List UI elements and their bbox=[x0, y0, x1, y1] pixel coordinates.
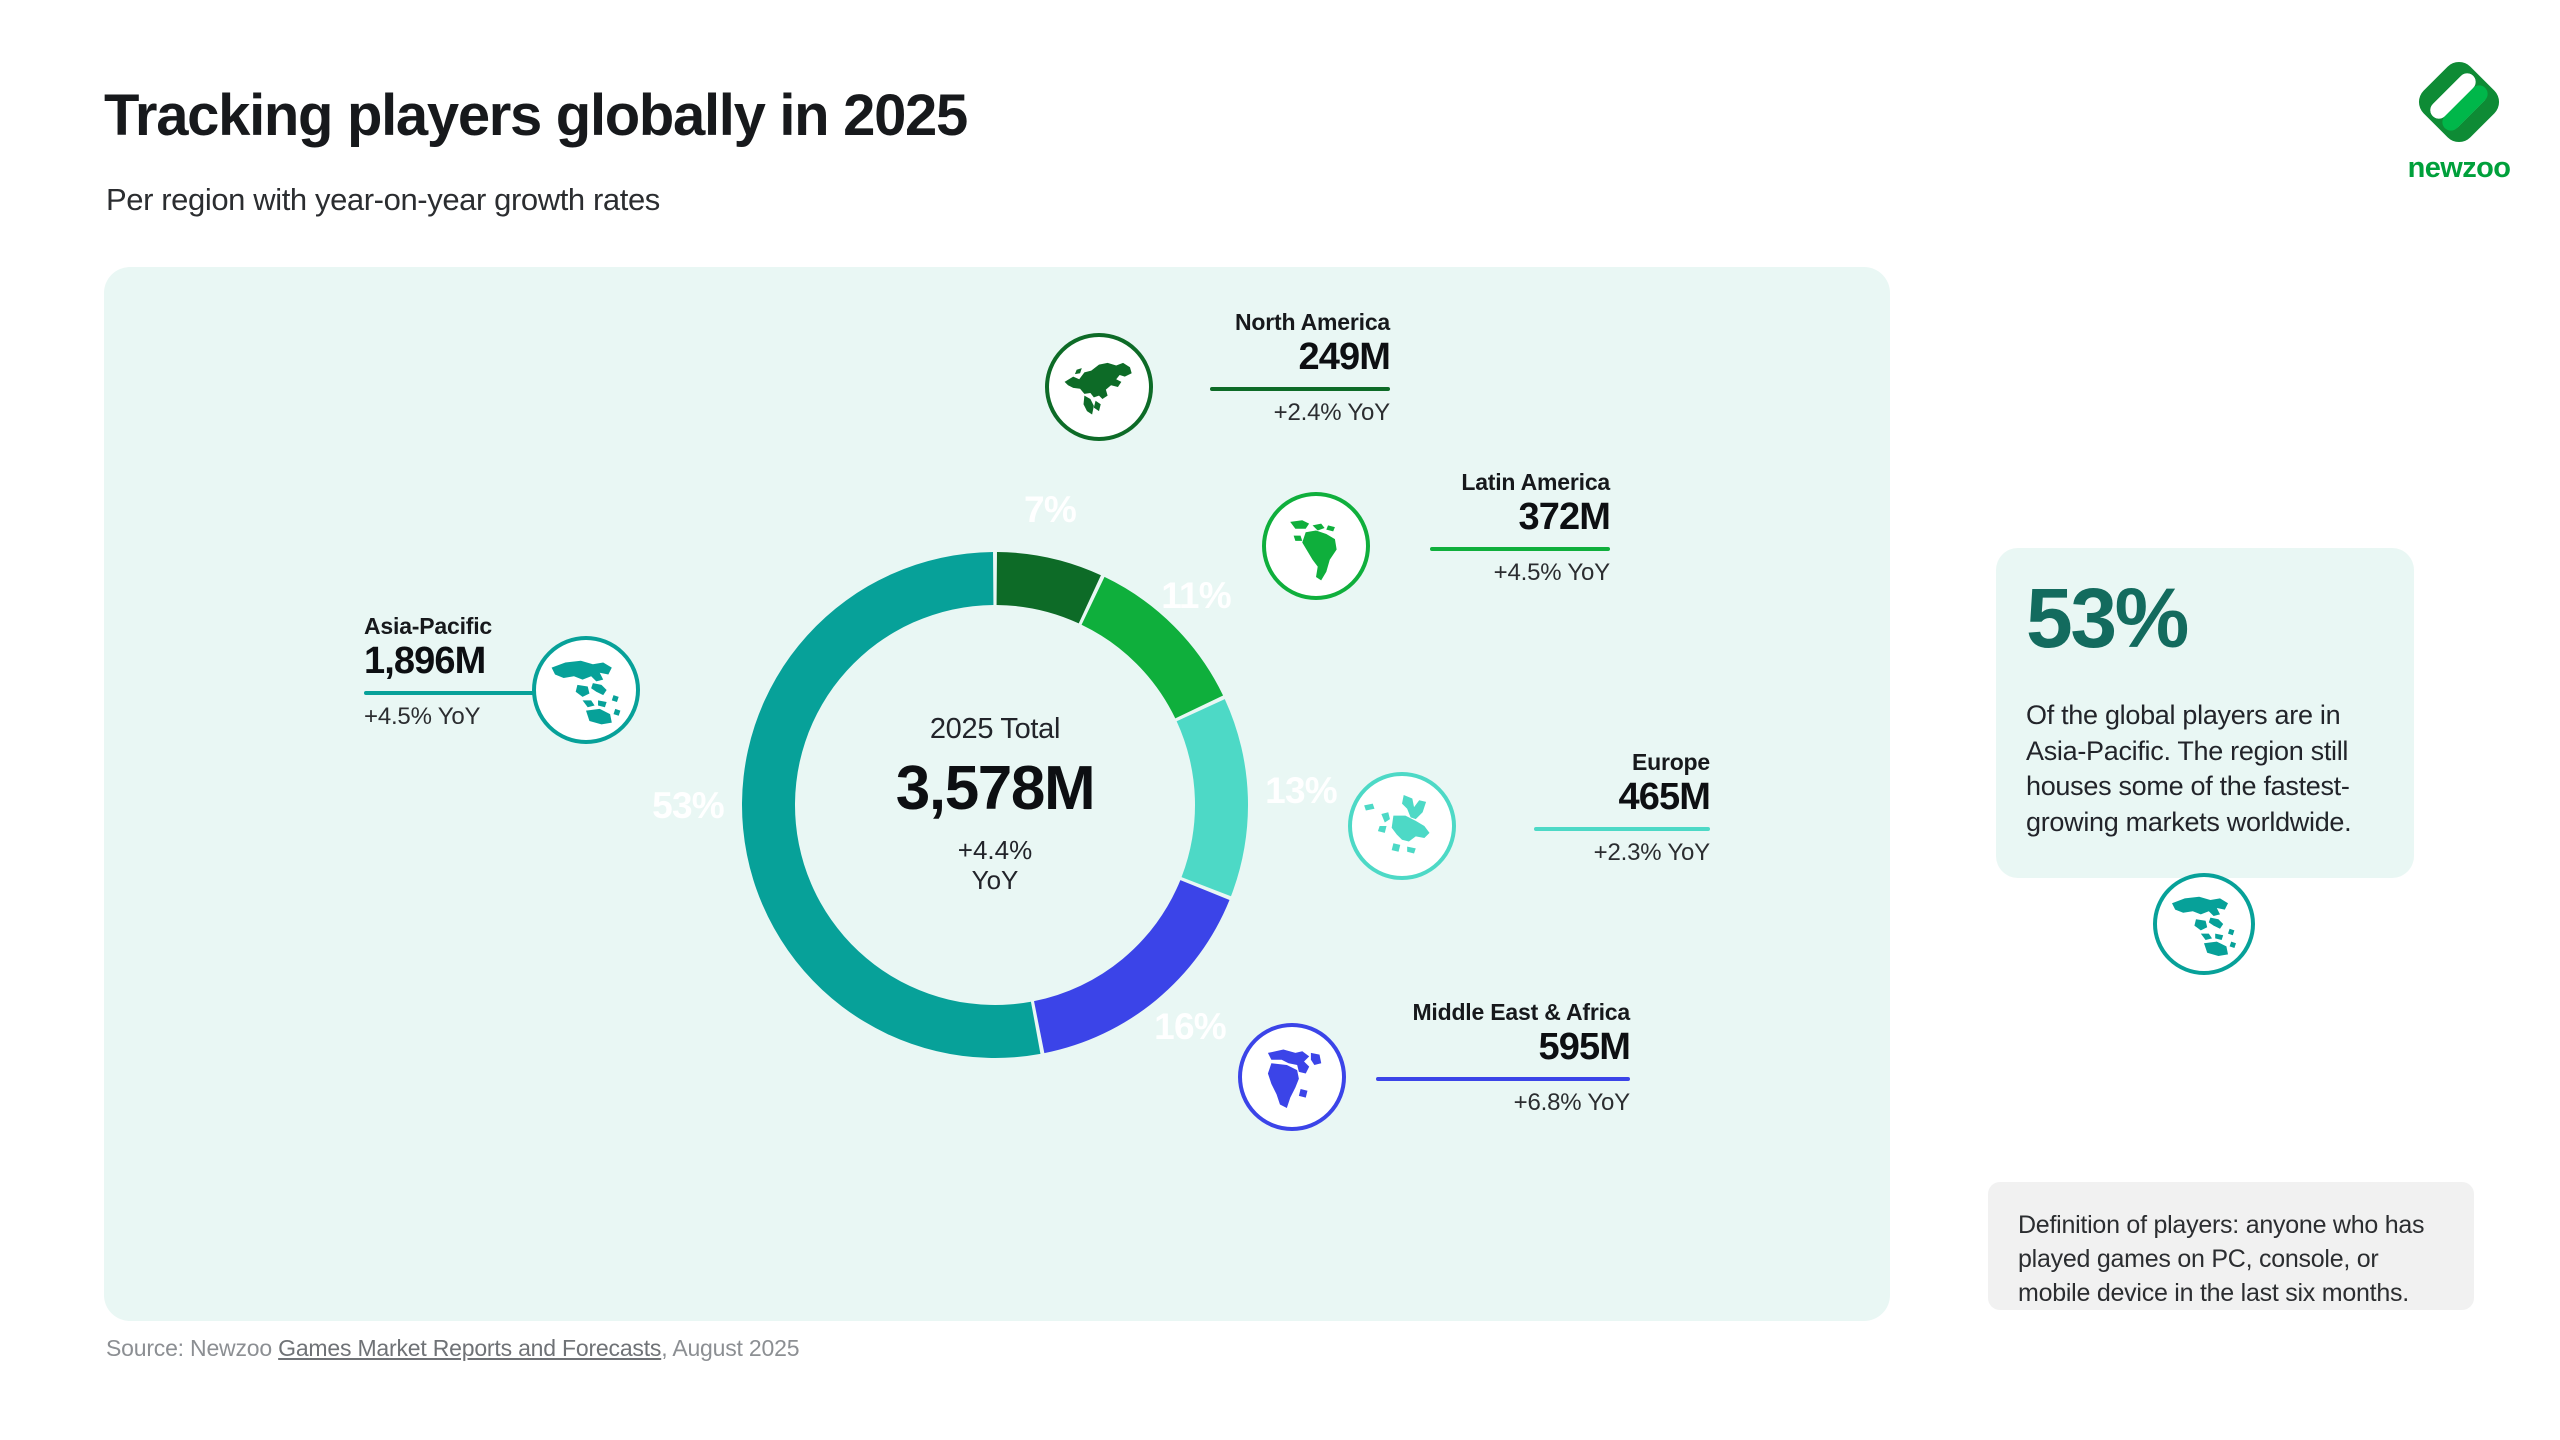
definition-card: Definition of players: anyone who has pl… bbox=[1988, 1182, 2474, 1310]
stat-card-description: Of the global players are in Asia-Pacifi… bbox=[2026, 698, 2386, 841]
definition-text: Definition of players: anyone who has pl… bbox=[2018, 1208, 2448, 1310]
callout-name-latin-america: Latin America bbox=[1250, 470, 1610, 495]
segment-percent-middle-east-africa: 16% bbox=[1154, 1006, 1226, 1048]
callout-rule-asia-pacific bbox=[364, 691, 552, 695]
infographic-canvas: Tracking players globally in 2025 Per re… bbox=[0, 0, 2560, 1440]
stat-card: 53% Of the global players are in Asia-Pa… bbox=[1996, 548, 2414, 878]
callout-name-asia-pacific: Asia-Pacific bbox=[364, 614, 654, 639]
europe-map-icon bbox=[1348, 772, 1456, 880]
segment-percent-north-america: 7% bbox=[1024, 489, 1076, 531]
stat-card-asia-pacific-map-icon bbox=[2153, 873, 2255, 975]
asia-pacific-map-icon bbox=[532, 636, 640, 744]
callout-rule-middle-east-africa bbox=[1376, 1077, 1630, 1081]
callout-name-north-america: North America bbox=[1030, 310, 1390, 335]
newzoo-logo: newzoo bbox=[2395, 52, 2523, 192]
donut-segment[interactable] bbox=[742, 552, 1040, 1058]
segment-percent-asia-pacific: 53% bbox=[652, 785, 724, 827]
source-prefix: Source: Newzoo bbox=[106, 1335, 278, 1361]
callout-name-middle-east-africa: Middle East & Africa bbox=[1230, 1000, 1630, 1025]
donut-chart: 2025 Total 3,578M +4.4% YoY bbox=[742, 552, 1248, 1058]
north-america-map-icon bbox=[1045, 333, 1153, 441]
stat-card-big-number: 53% bbox=[2026, 576, 2187, 660]
source-suffix: , August 2025 bbox=[661, 1335, 799, 1361]
page-title: Tracking players globally in 2025 bbox=[104, 82, 967, 149]
callout-rule-latin-america bbox=[1430, 547, 1610, 551]
newzoo-diamond-icon bbox=[2409, 52, 2509, 152]
source-link[interactable]: Games Market Reports and Forecasts bbox=[278, 1335, 661, 1361]
donut-segment[interactable] bbox=[997, 552, 1101, 623]
segment-percent-latin-america: 11% bbox=[1161, 575, 1231, 617]
segment-percent-europe: 13% bbox=[1265, 770, 1337, 812]
newzoo-wordmark: newzoo bbox=[2395, 152, 2523, 185]
callout-rule-north-america bbox=[1210, 387, 1390, 391]
donut-segment[interactable] bbox=[1177, 699, 1248, 896]
africa-map-icon bbox=[1238, 1023, 1346, 1131]
callout-rule-europe bbox=[1534, 827, 1710, 831]
latin-america-map-icon bbox=[1262, 492, 1370, 600]
page-subtitle: Per region with year-on-year growth rate… bbox=[106, 182, 660, 218]
source-line: Source: Newzoo Games Market Reports and … bbox=[106, 1335, 799, 1362]
